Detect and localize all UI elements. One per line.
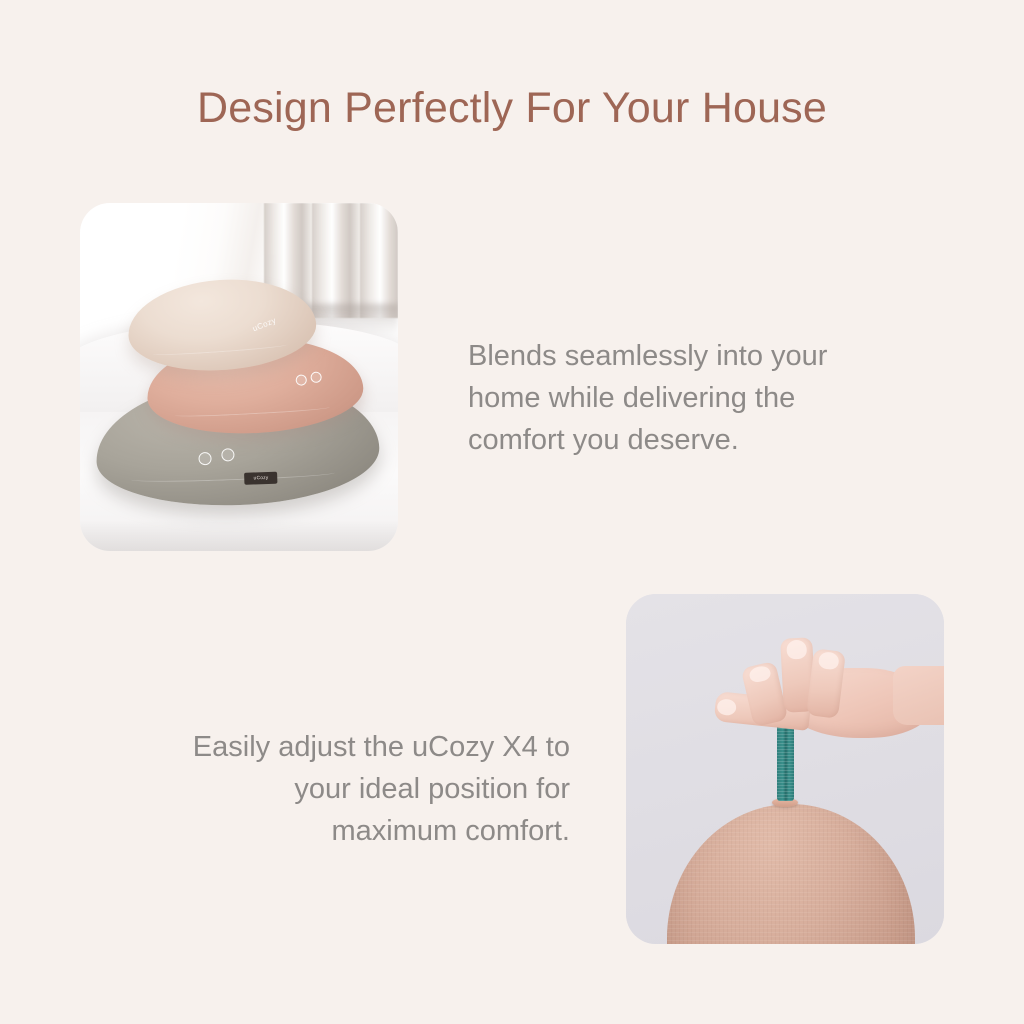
fingernail bbox=[786, 639, 807, 659]
brand-tag: uCozy bbox=[244, 472, 277, 485]
control-button-icon bbox=[198, 453, 211, 466]
cushion-logo: uCozy bbox=[251, 315, 277, 333]
cushion-seam bbox=[131, 469, 335, 485]
power-button-icon bbox=[310, 371, 322, 383]
power-button-icon bbox=[221, 448, 234, 461]
brand-tag-label: uCozy bbox=[253, 475, 268, 481]
cushion-seam bbox=[174, 403, 330, 418]
marketing-page: Design Perfectly For Your House uCozy uC… bbox=[0, 0, 1024, 1024]
fingernail bbox=[716, 697, 737, 716]
control-button-icon bbox=[295, 374, 307, 386]
fingernail bbox=[747, 664, 772, 684]
seat-shadow bbox=[80, 520, 398, 551]
page-title: Design Perfectly For Your House bbox=[0, 81, 1024, 135]
product-photo-stacked-cushions: uCozy uCozy bbox=[80, 203, 398, 551]
benefit-copy-left: Easily adjust the uCozy X4 to your ideal… bbox=[170, 726, 570, 852]
hand-wrist bbox=[893, 666, 944, 726]
product-photo-strap-adjust: ✳ bbox=[626, 594, 944, 944]
cushion-seam bbox=[152, 341, 287, 357]
benefit-copy-right: Blends seamlessly into your home while d… bbox=[468, 335, 868, 461]
fingernail bbox=[818, 651, 840, 671]
